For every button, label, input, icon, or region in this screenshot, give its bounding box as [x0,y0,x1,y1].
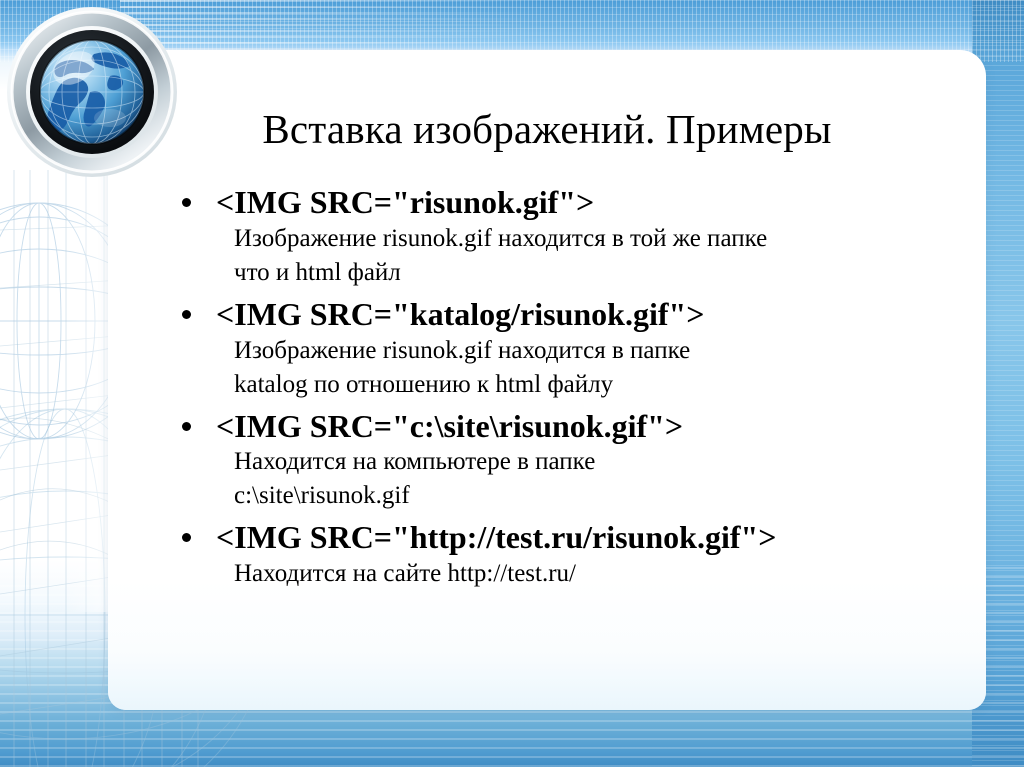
description-line: Находится на компьютере в папке [234,445,978,479]
presentation-slide: Вставка изображений. Примеры <IMG SRC="r… [0,0,1024,767]
description-line: что и html файл [234,256,978,290]
list-item: <IMG SRC="risunok.gif">Изображение risun… [178,184,978,290]
bullet-dot-icon [182,198,191,207]
list-item: <IMG SRC="http://test.ru/risunok.gif">На… [178,519,978,591]
bullet-dot-icon [182,422,191,431]
slide-content-panel: Вставка изображений. Примеры <IMG SRC="r… [108,50,986,710]
description-line: c:\site\risunok.gif [234,479,978,513]
globe-icon [6,6,178,178]
description-line: Находится на сайте http://test.ru/ [234,557,978,591]
code-snippet: <IMG SRC="c:\site\risunok.gif"> [216,408,978,446]
bullet-dot-icon [182,533,191,542]
bullet-list: <IMG SRC="risunok.gif">Изображение risun… [178,184,978,597]
description-line: Изображение risunok.gif находится в той … [234,222,978,256]
code-snippet: <IMG SRC="http://test.ru/risunok.gif"> [216,519,978,557]
bullet-dot-icon [182,310,191,319]
page-title: Вставка изображений. Примеры [108,105,986,153]
description-line: katalog по отношению к html файлу [234,368,978,402]
list-item: <IMG SRC="katalog/risunok.gif">Изображен… [178,296,978,402]
code-snippet: <IMG SRC="risunok.gif"> [216,184,978,222]
description-line: Изображение risunok.gif находится в папк… [234,334,978,368]
code-snippet: <IMG SRC="katalog/risunok.gif"> [216,296,978,334]
list-item: <IMG SRC="c:\site\risunok.gif">Находится… [178,408,978,514]
